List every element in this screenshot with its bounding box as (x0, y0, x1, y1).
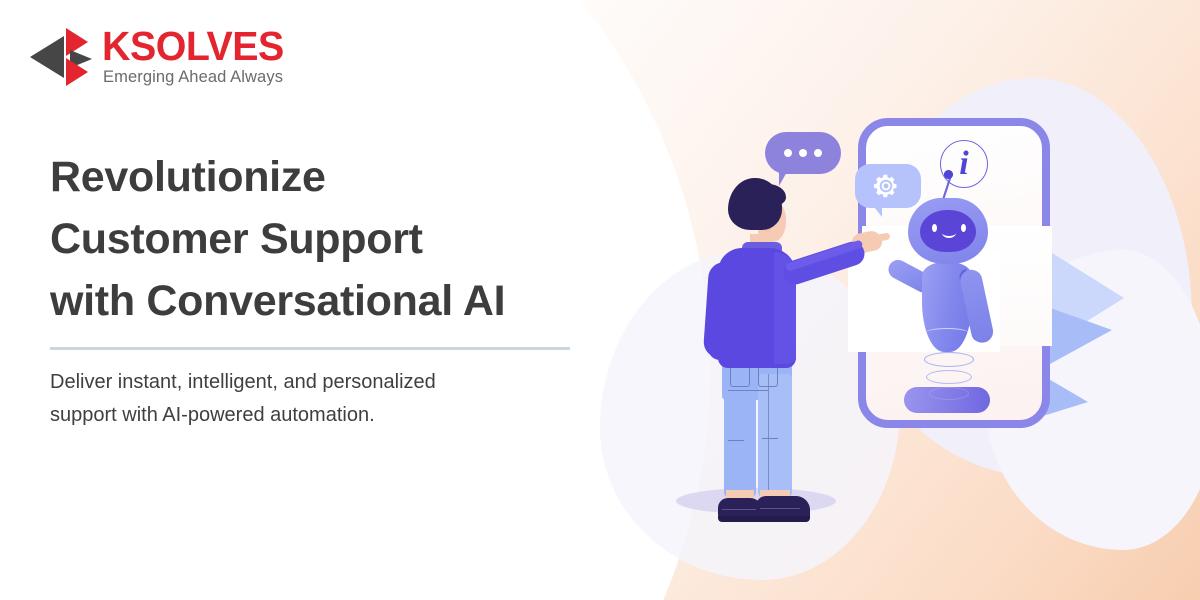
person-shoe-sole-right (756, 516, 810, 522)
subhead-line-2: support with AI-powered automation. (50, 399, 570, 432)
logo-triangle-red-bottom (66, 58, 88, 86)
robot-eye-left (932, 224, 937, 232)
logo-triangle-left (30, 36, 64, 78)
logo-tagline: Emerging Ahead Always (103, 68, 283, 87)
headline-line-3: with Conversational AI (50, 270, 610, 332)
person-hair-fringe (756, 184, 786, 206)
typing-dot (814, 149, 822, 157)
headline-line-1: Revolutionize (50, 146, 610, 208)
person-leg-left (724, 374, 756, 498)
robot-hover-ring (926, 370, 972, 384)
chatbot-robot-foreground (900, 170, 1020, 390)
person-jeans-seam-vertical (768, 374, 769, 494)
gear-icon (872, 172, 900, 200)
logo-wordmark: KSOLVES (102, 24, 284, 68)
person-leg-right (758, 374, 792, 498)
robot-body-seam (924, 328, 970, 339)
headline-line-2: Customer Support (50, 208, 610, 270)
ksolves-logo[interactable]: KSOLVES Emerging Ahead Always (30, 24, 280, 96)
typing-dot (784, 149, 792, 157)
robot-smile (942, 228, 956, 238)
subhead-line-1: Deliver instant, intelligent, and person… (50, 366, 570, 399)
robot-hover-ring (929, 387, 969, 400)
person-shoe-lace-left (722, 509, 756, 510)
ksolves-k-triangles-logo (30, 28, 92, 86)
person-knee-crease (762, 438, 778, 439)
typing-dot (799, 149, 807, 157)
person-knee-crease (728, 440, 744, 441)
robot-antenna-tip (944, 170, 953, 179)
person-jeans-pocket (730, 368, 750, 387)
person-shoe-lace-right (760, 508, 800, 509)
robot-eye-right (961, 224, 966, 232)
person-pointing (700, 178, 875, 518)
divider (50, 347, 570, 350)
robot-hover-ring (924, 352, 974, 367)
hero-subtitle: Deliver instant, intelligent, and person… (50, 366, 570, 432)
hero-banner: KSOLVES Emerging Ahead Always Revolution… (0, 0, 1200, 600)
person-jeans-seam (728, 390, 768, 391)
page-title: Revolutionize Customer Support with Conv… (50, 146, 610, 332)
